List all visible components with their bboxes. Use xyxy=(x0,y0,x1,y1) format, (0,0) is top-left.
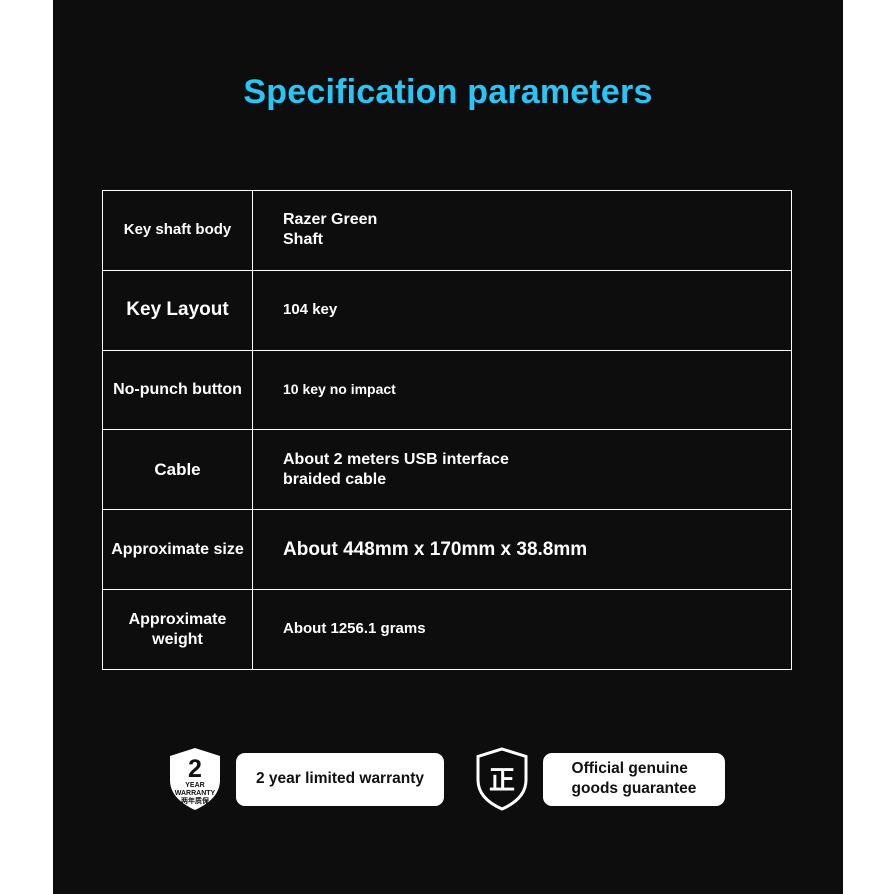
spec-value: 104 key xyxy=(253,271,791,350)
warranty-pill-label: 2 year limited warranty xyxy=(236,753,444,806)
table-row: Key Layout 104 key xyxy=(103,271,791,351)
spec-label: Cable xyxy=(103,430,253,509)
product-detail-page: Specification parameters Key shaft body … xyxy=(0,0,894,894)
spec-value: About 1256.1 grams xyxy=(253,590,791,669)
page-title: Specification parameters xyxy=(53,70,843,114)
svg-text:WARRANTY: WARRANTY xyxy=(175,790,216,797)
specification-table: Key shaft body Razer Green Shaft Key Lay… xyxy=(102,190,792,670)
spec-label: Approximate weight xyxy=(103,590,253,669)
svg-text:2: 2 xyxy=(188,755,202,783)
svg-text:YEAR: YEAR xyxy=(185,782,204,789)
svg-text:两年质保: 两年质保 xyxy=(181,796,210,805)
warranty-shield-icon: 2 YEAR WARRANTY 两年质保 xyxy=(168,747,222,811)
genuine-badge-group: 正 Official genuine goods guarantee xyxy=(475,744,725,814)
table-row: Key shaft body Razer Green Shaft xyxy=(103,191,791,271)
svg-text:正: 正 xyxy=(489,765,515,795)
spec-value: 10 key no impact xyxy=(253,351,791,430)
guarantee-badges: 2 YEAR WARRANTY 两年质保 2 year limited warr… xyxy=(53,744,843,814)
genuine-pill-label: Official genuine goods guarantee xyxy=(543,753,725,806)
genuine-shield-icon: 正 xyxy=(475,747,529,811)
spec-value: Razer Green Shaft xyxy=(253,191,791,270)
spec-value: About 2 meters USB interface braided cab… xyxy=(253,430,791,509)
spec-label: Key shaft body xyxy=(103,191,253,270)
table-row: Cable About 2 meters USB interface braid… xyxy=(103,430,791,510)
spec-label: Approximate size xyxy=(103,510,253,589)
spec-label: Key Layout xyxy=(103,271,253,350)
spec-value: About 448mm x 170mm x 38.8mm xyxy=(253,510,791,589)
table-row: Approximate weight About 1256.1 grams xyxy=(103,590,791,669)
dark-content-panel: Specification parameters Key shaft body … xyxy=(53,0,843,894)
table-row: Approximate size About 448mm x 170mm x 3… xyxy=(103,510,791,590)
warranty-badge-group: 2 YEAR WARRANTY 两年质保 2 year limited warr… xyxy=(168,744,444,814)
spec-label: No-punch button xyxy=(103,351,253,430)
table-row: No-punch button 10 key no impact xyxy=(103,351,791,431)
